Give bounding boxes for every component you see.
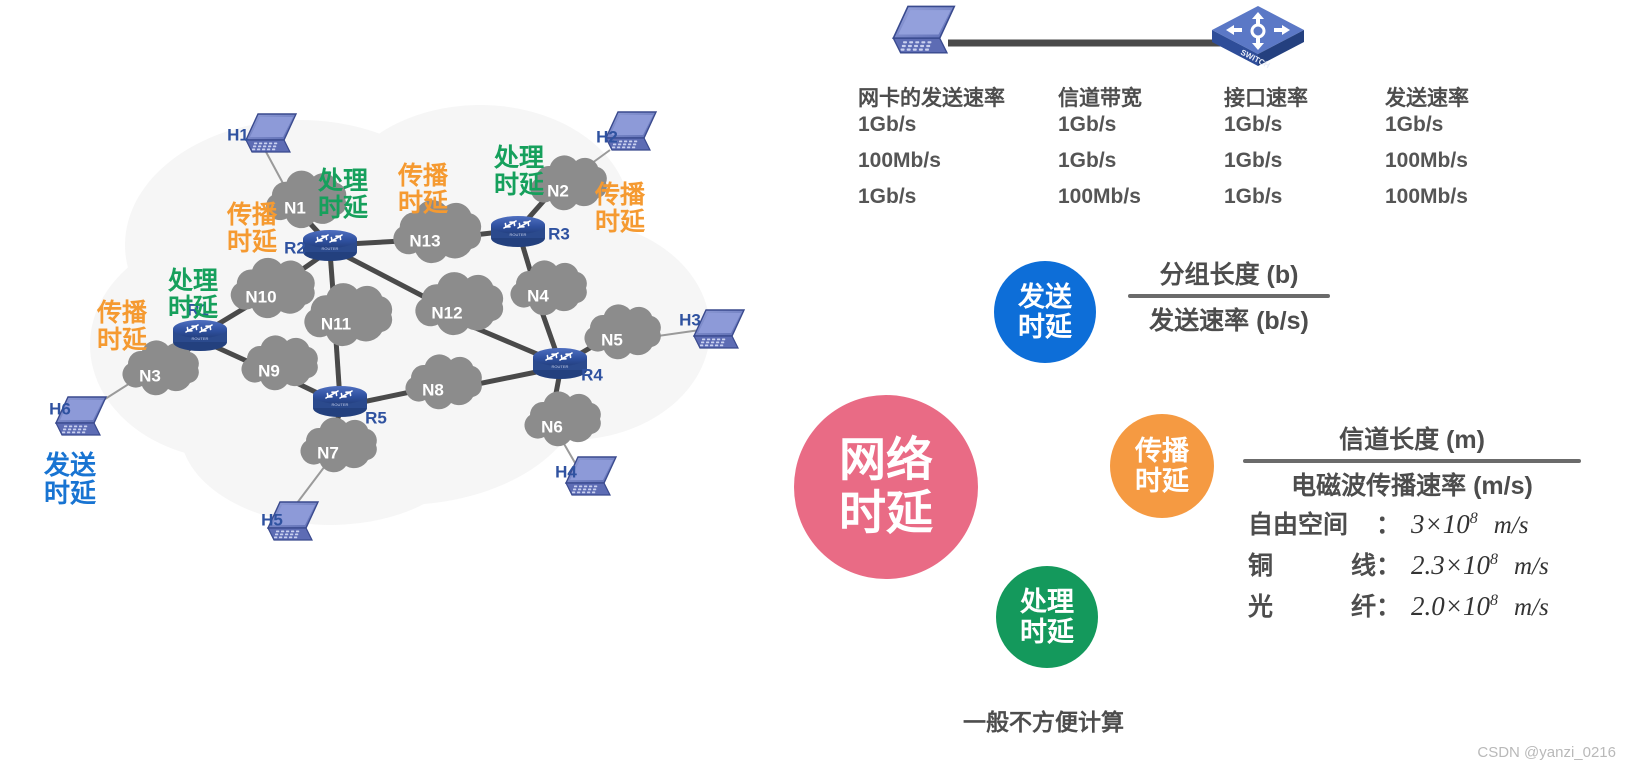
annotation-sending-1: 发送 时延 <box>44 452 96 508</box>
formula-sending-numerator: 分组长度 (b) <box>1128 255 1330 294</box>
cloud-label-n6: N6 <box>541 417 563 436</box>
router-r3-icon <box>491 216 545 247</box>
speed-unit-0: m/s <box>1494 512 1529 540</box>
router-label-r2: R2 <box>284 238 306 257</box>
table-cell-r0c2: 1Gb/s <box>1224 113 1282 137</box>
table-cell-r2c3: 100Mb/s <box>1385 185 1468 209</box>
annotation-processing-1: 处理 时延 <box>318 168 368 222</box>
cloud-label-n13: N13 <box>409 231 440 250</box>
speed-colon-1: ： <box>1376 546 1401 582</box>
table-cell-r2c2: 1Gb/s <box>1224 185 1282 209</box>
router-label-r4: R4 <box>581 365 603 384</box>
speed-coeff-2: 2.0×10 <box>1411 591 1490 621</box>
speed-exp-0: 8 <box>1470 510 1478 527</box>
annotation-propagation-4: 传播 时延 <box>97 300 147 354</box>
cloud-label-n2: N2 <box>547 181 569 200</box>
formula-sending-delay: 分组长度 (b) 发送速率 (b/s) <box>1128 255 1330 337</box>
circle-processing-delay[interactable]: 处理 时延 <box>996 566 1098 668</box>
processing-delay-note: 一般不方便计算 <box>963 703 1124 737</box>
speed-row-fiber: 光 纤 ： 2.0×108 m/s <box>1248 587 1549 628</box>
table-cell-r2c0: 1Gb/s <box>858 185 916 209</box>
router-r5-icon <box>313 386 367 417</box>
speed-colon-2: ： <box>1376 587 1401 623</box>
table-header-1: 信道带宽 <box>1058 82 1142 112</box>
switch-icon: SWITCH <box>1212 6 1304 70</box>
cloud-label-n4: N4 <box>527 286 549 305</box>
table-cell-r0c0: 1Gb/s <box>858 113 916 137</box>
watermark-credit: CSDN @yanzi_0216 <box>1477 744 1616 761</box>
annotation-propagation-2: 传播 时延 <box>398 163 448 217</box>
speed-value-0: 3×108 <box>1411 509 1478 540</box>
host-label-h3: H3 <box>679 310 701 329</box>
circle-network-delay[interactable]: 网络 时延 <box>794 395 978 579</box>
speed-coeff-1: 2.3×10 <box>1411 550 1490 580</box>
speed-name-right-2: 纤 <box>1351 587 1376 623</box>
host-label-h4: H4 <box>555 462 577 481</box>
laptop-icon <box>893 6 954 52</box>
speed-unit-2: m/s <box>1514 594 1549 622</box>
annotation-propagation-1: 传播 时延 <box>227 202 277 256</box>
cloud-label-n7: N7 <box>317 443 339 462</box>
table-header-2: 接口速率 <box>1224 82 1308 112</box>
speed-row-copper: 铜 线 ： 2.3×108 m/s <box>1248 546 1549 587</box>
circle-propagation-delay[interactable]: 传播 时延 <box>1110 414 1214 518</box>
annotation-processing-3: 处理 时延 <box>494 145 544 199</box>
router-label-r5: R5 <box>365 408 387 427</box>
speed-name-left-2: 光 <box>1248 587 1273 623</box>
formula-sending-denominator: 发送速率 (b/s) <box>1128 298 1330 337</box>
cloud-label-n10: N10 <box>245 287 276 306</box>
table-cell-r0c1: 1Gb/s <box>1058 113 1116 137</box>
speed-name-right-1: 线 <box>1351 546 1376 582</box>
table-cell-r0c3: 1Gb/s <box>1385 113 1443 137</box>
speed-name-copper: 铜 线 <box>1248 546 1376 582</box>
cloud-label-n8: N8 <box>422 380 444 399</box>
speed-name-left-1: 铜 <box>1248 546 1273 582</box>
speed-name-fiber: 光 纤 <box>1248 587 1376 623</box>
cloud-label-n1: N1 <box>284 198 306 217</box>
speed-exp-1: 8 <box>1490 551 1498 568</box>
propagation-speed-list: 自由空间 ： 3×108 m/s 铜 线 ： 2.3×108 m/s 光 纤 ：… <box>1248 505 1549 628</box>
table-cell-r1c3: 100Mb/s <box>1385 149 1468 173</box>
speed-value-2: 2.0×108 <box>1411 591 1498 622</box>
table-cell-r2c1: 100Mb/s <box>1058 185 1141 209</box>
annotation-processing-2: 处理 时延 <box>168 268 218 322</box>
router-r2-icon <box>303 230 357 261</box>
rate-comparison-table: SWITCH 网卡的发送速率 信道带宽 接口速率 发送速率 1Gb/s 1Gb/… <box>850 0 1628 225</box>
table-header-0: 网卡的发送速率 <box>858 82 1005 112</box>
link-illustration: SWITCH <box>850 0 1350 72</box>
slide-canvas: ROUTER <box>0 0 1628 769</box>
formula-propagation-delay: 信道长度 (m) 电磁波传播速率 (m/s) <box>1243 420 1581 502</box>
cloud-label-n12: N12 <box>431 303 462 322</box>
cloud-label-n5: N5 <box>601 330 623 349</box>
speed-name-left-0: 自由空间 <box>1248 505 1348 541</box>
router-r4-icon <box>533 348 587 379</box>
annotation-propagation-3: 传播 时延 <box>595 182 645 236</box>
speed-row-free-space: 自由空间 ： 3×108 m/s <box>1248 505 1549 546</box>
speed-name-free-space: 自由空间 <box>1248 505 1376 541</box>
host-label-h5: H5 <box>261 510 283 529</box>
host-label-h1: H1 <box>227 125 249 144</box>
table-cell-r1c0: 100Mb/s <box>858 149 941 173</box>
cloud-label-n3: N3 <box>139 366 161 385</box>
speed-exp-2: 8 <box>1490 592 1498 609</box>
circle-sending-delay[interactable]: 发送 时延 <box>994 261 1096 363</box>
speed-unit-1: m/s <box>1514 553 1549 581</box>
host-label-h2: H2 <box>596 127 618 146</box>
table-cell-r1c1: 1Gb/s <box>1058 149 1116 173</box>
speed-coeff-0: 3×10 <box>1411 509 1470 539</box>
router-label-r3: R3 <box>548 224 570 243</box>
cloud-label-n9: N9 <box>258 361 280 380</box>
table-header-3: 发送速率 <box>1385 82 1469 112</box>
network-topology-diagram: ROUTER <box>0 0 790 600</box>
formula-propagation-numerator: 信道长度 (m) <box>1243 420 1581 459</box>
speed-colon-0: ： <box>1376 505 1401 541</box>
router-r1-icon <box>173 320 227 351</box>
cloud-label-n11: N11 <box>321 314 351 333</box>
host-label-h6: H6 <box>49 399 71 418</box>
speed-value-1: 2.3×108 <box>1411 550 1498 581</box>
table-cell-r1c2: 1Gb/s <box>1224 149 1282 173</box>
formula-propagation-denominator: 电磁波传播速率 (m/s) <box>1243 463 1581 502</box>
